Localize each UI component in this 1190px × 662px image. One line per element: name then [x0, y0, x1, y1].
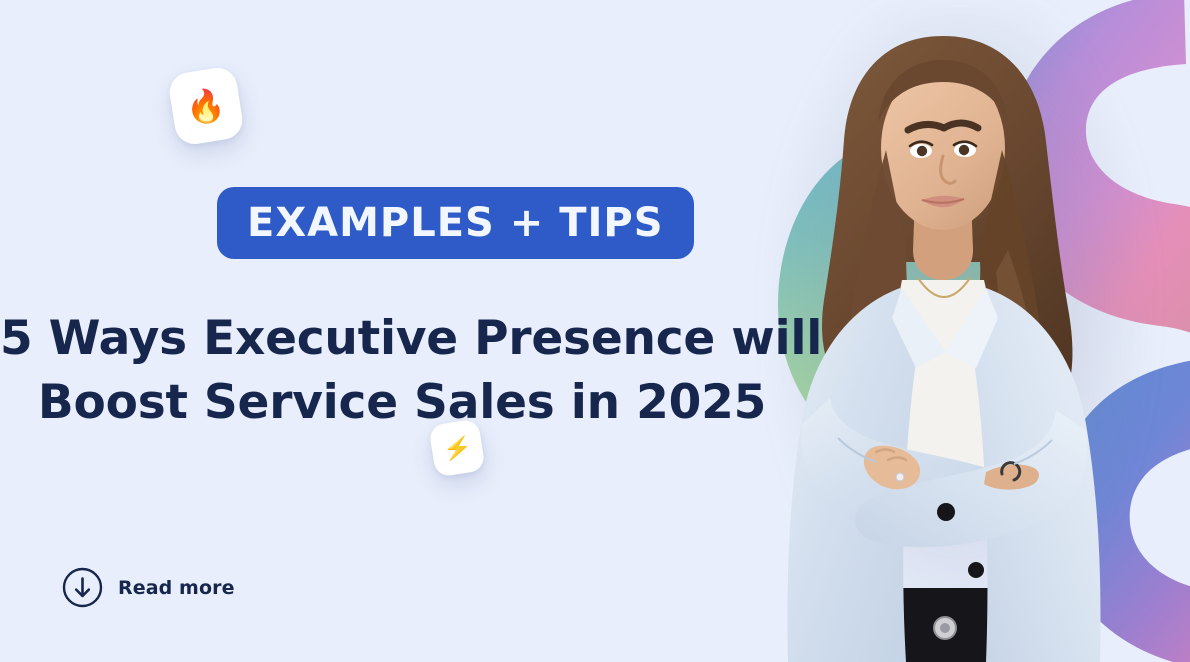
lightning-bolt-emoji-icon: ⚡ [443, 437, 472, 460]
category-badge: EXAMPLES + TIPS [217, 187, 694, 259]
page-title: 5 Ways Executive Presence will Boost Ser… [0, 307, 804, 435]
arrow-down-circle-icon[interactable] [62, 567, 103, 608]
headline-line-1: 5 Ways Executive Presence will [0, 307, 804, 371]
read-more-button[interactable]: Read more [62, 567, 235, 608]
blog-hero-banner: 🔥 ⚡ EXAMPLES + TIPS 5 Ways Executive Pre… [0, 0, 1190, 662]
fire-emoji-icon: 🔥 [186, 90, 226, 122]
fire-emoji-sticker: 🔥 [167, 65, 245, 147]
headline-line-2: Boost Service Sales in 2025 [0, 371, 804, 435]
read-more-label: Read more [118, 577, 235, 599]
